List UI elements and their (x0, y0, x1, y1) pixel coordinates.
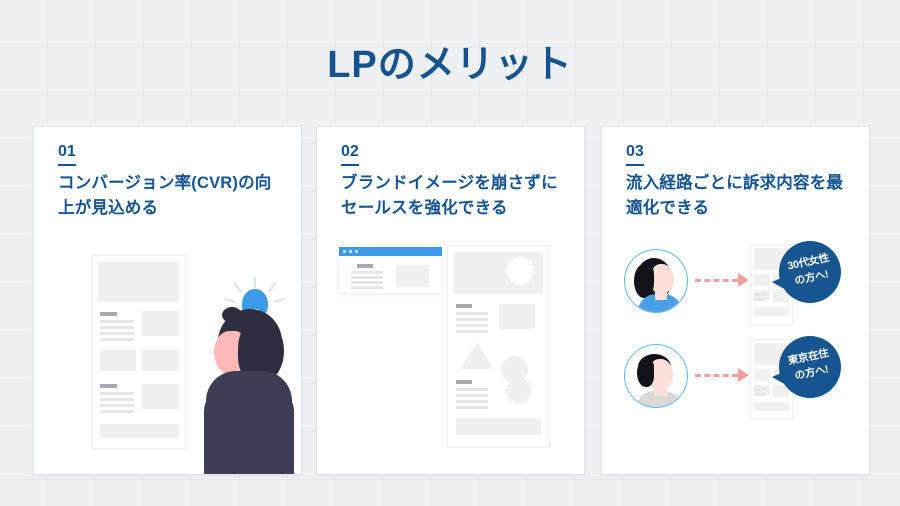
wireframe-text-line (754, 293, 766, 296)
wireframe-image (396, 265, 429, 287)
avatar-neck (654, 386, 667, 396)
wireframe-text-line (351, 271, 383, 274)
wireframe-page (91, 255, 186, 449)
female-avatar (624, 249, 688, 313)
wireframe-text-line (456, 318, 488, 321)
card-heading-02: ブランドイメージを崩さずにセールスを強化できる (341, 171, 566, 221)
starburst-shape (505, 376, 535, 406)
wireframe-text-line (456, 394, 488, 397)
wireframe-footer (456, 418, 541, 435)
starburst-shape (505, 255, 537, 287)
wireframe-image (499, 304, 535, 329)
browser-control-dot (355, 250, 358, 253)
wireframe-text-line (351, 281, 383, 284)
wireframe-text-line (100, 392, 134, 395)
male-avatar (624, 344, 688, 408)
wireframe-text-line (100, 326, 134, 329)
wireframe-image (100, 350, 136, 371)
wireframe-footer (754, 307, 789, 316)
wireframe-caption (100, 384, 117, 388)
wireframe-text-line (100, 404, 134, 407)
card-3-illustration: 30代女性 の方へ! 東京在住 (602, 237, 869, 474)
card-2-illustration (317, 237, 584, 474)
bulb-ray (268, 282, 277, 293)
bulb-ray (254, 277, 256, 288)
persona-bubble-1-text: 30代女性 の方へ! (776, 248, 843, 292)
benefit-card-2[interactable]: 02 ブランドイメージを崩さずにセールスを強化できる (316, 126, 585, 475)
wireframe-text-line (351, 276, 383, 279)
wireframe-image (754, 369, 770, 381)
wireframe-caption (456, 380, 472, 384)
wireframe-text-line (100, 338, 134, 341)
wireframe-text-line (456, 330, 488, 333)
landing-page-wireframe (447, 245, 550, 448)
card-heading-01: コンバージョン率(CVR)の向上が見込める (58, 171, 283, 221)
bulb-ray (224, 298, 235, 303)
persona-bubble-1: 30代女性 の方へ! (779, 241, 841, 303)
wireframe-footer (754, 402, 789, 411)
wireframe-text-line (456, 400, 488, 403)
wireframe-text-line (456, 388, 488, 391)
browser-control-dot (343, 250, 346, 253)
persona-bubble-2-text: 東京在住 の方へ! (776, 343, 843, 387)
wireframe-text-line (754, 388, 766, 391)
benefit-card-3[interactable]: 03 流入経路ごとに訴求内容を最適化できる 30代女性 の方 (601, 126, 870, 475)
persona-bubble-2: 東京在住 の方へ! (779, 336, 841, 398)
wireframe-text-line (100, 320, 134, 323)
card-number-03: 03 (626, 143, 644, 166)
wireframe-text-line (100, 410, 134, 413)
wireframe-text-line (351, 286, 383, 289)
person-back-view (204, 309, 294, 474)
bulb-ray (233, 282, 242, 293)
routing-arrow-head-1 (738, 273, 749, 287)
card-number-02: 02 (341, 143, 359, 166)
benefit-card-1[interactable]: 01 コンバージョン率(CVR)の向上が見込める (33, 126, 302, 475)
wireframe-image (142, 311, 179, 336)
avatar-hair-side (637, 359, 654, 387)
wireframe-text-line (754, 393, 766, 396)
routing-arrow-head-2 (738, 368, 749, 382)
wireframe-caption (456, 304, 472, 308)
wireframe-image (142, 384, 179, 409)
wireframe-text-line (100, 398, 134, 401)
wireframe-caption (100, 312, 117, 316)
wireframe-text-line (456, 406, 488, 409)
triangle-shape (460, 342, 494, 369)
card-number-01: 01 (58, 143, 76, 166)
avatar-hair-side (634, 264, 654, 298)
routing-arrow-1 (695, 279, 738, 282)
wireframe-footer (100, 424, 179, 438)
wireframe-text-line (100, 332, 134, 335)
card-1-illustration (34, 237, 301, 474)
avatar-neck (655, 290, 667, 300)
routing-arrow-2 (695, 374, 738, 377)
wireframe-image (754, 274, 770, 286)
browser-control-dot (349, 250, 352, 253)
bulb-ray (275, 298, 286, 303)
card-heading-03: 流入経路ごとに訴求内容を最適化できる (626, 171, 851, 221)
browser-window-mockup (339, 247, 442, 293)
wireframe-caption (357, 264, 373, 268)
page-title: LPのメリット (0, 40, 900, 90)
wireframe-hero (98, 262, 179, 302)
wireframe-text-line (456, 312, 488, 315)
person-shoulder (204, 389, 294, 474)
wireframe-image (142, 350, 179, 371)
wireframe-text-line (754, 298, 766, 301)
person-hair-tuft (222, 307, 242, 323)
wireframe-text-line (456, 324, 488, 327)
